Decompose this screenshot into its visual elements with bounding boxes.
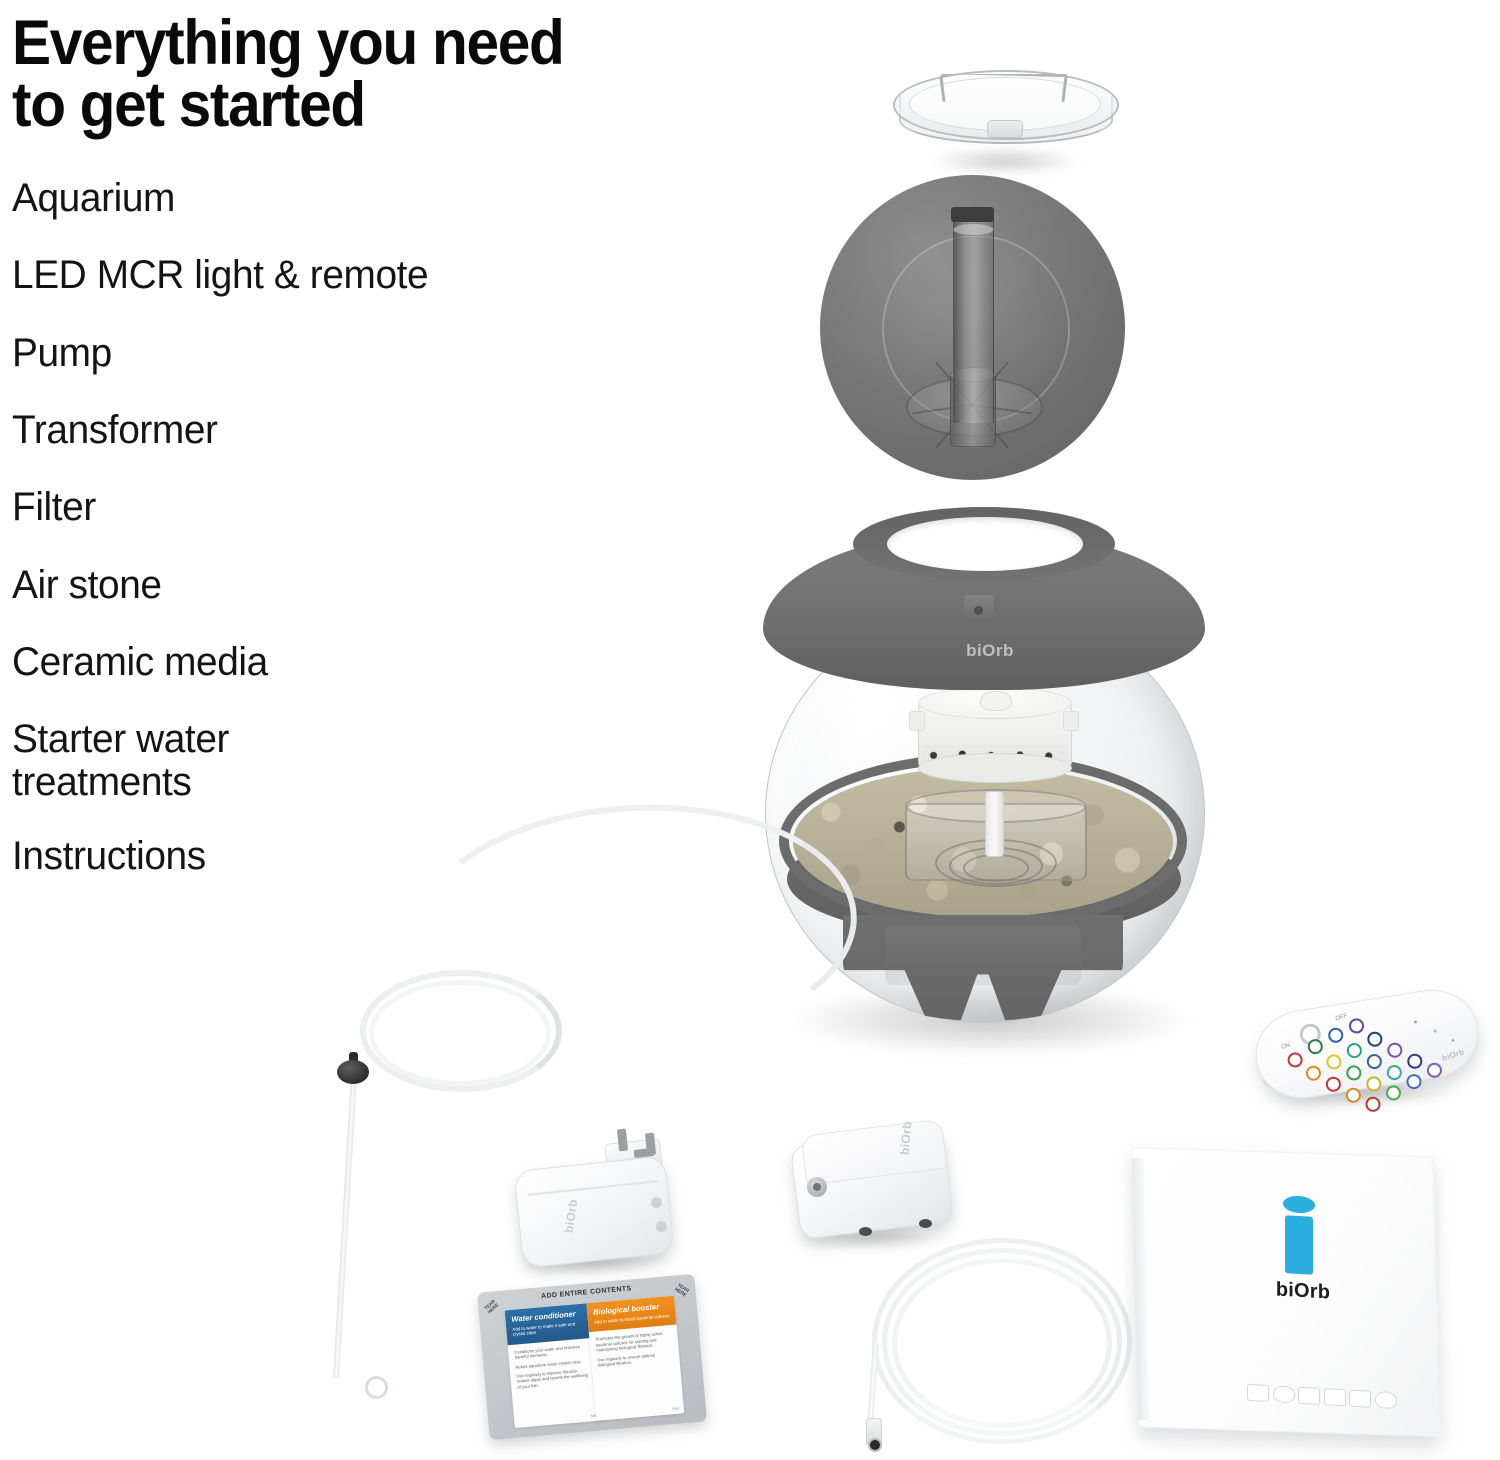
filter-bottom bbox=[918, 753, 1072, 783]
instruction-manual: biOrb bbox=[1135, 1152, 1465, 1450]
list-item: Pump bbox=[12, 332, 691, 374]
clear-lid bbox=[893, 70, 1115, 152]
biological-booster-pack: Biological booster Add to water to boost… bbox=[586, 1296, 684, 1421]
list-item: Starter water treatments bbox=[12, 718, 361, 803]
on-icon: ON bbox=[1281, 1042, 1291, 1050]
remote-color-button[interactable] bbox=[1325, 1076, 1342, 1093]
remote-color-button[interactable] bbox=[1307, 1038, 1324, 1055]
starter-water-treatments: ADD ENTIRE CONTENTS TEARHERE TEARHERE Wa… bbox=[477, 1274, 707, 1440]
page-title: Everything you need to get started bbox=[12, 0, 663, 137]
cable-lead bbox=[867, 1342, 879, 1424]
bullet: Use regularly to ensure optimal biologic… bbox=[597, 1350, 674, 1367]
list-item: Filter bbox=[12, 486, 691, 528]
air-tube-tip bbox=[365, 1376, 388, 1399]
list-item: Aquarium bbox=[12, 177, 691, 219]
brightness-down-icon: ✳ bbox=[1432, 1028, 1439, 1036]
brightness-up-icon: ✷ bbox=[1412, 1019, 1419, 1027]
air-tube-loop-inner bbox=[369, 980, 551, 1086]
led-light-tube bbox=[953, 213, 994, 423]
power-cable-coil bbox=[862, 1230, 1132, 1445]
air-tube-stem bbox=[333, 1075, 357, 1380]
clear-lid-tab bbox=[987, 120, 1023, 138]
remote-color-button[interactable] bbox=[1366, 1053, 1383, 1070]
product-silhouette-icon bbox=[1375, 1391, 1397, 1409]
remote-color-button[interactable] bbox=[1348, 1017, 1365, 1034]
product-silhouette-icon bbox=[1298, 1387, 1320, 1405]
dome-latch-hole bbox=[974, 606, 983, 615]
led-tube-top bbox=[953, 223, 994, 236]
off-icon: OFF bbox=[1335, 1013, 1348, 1022]
product-contents-infographic: Everything you need to get started Aquar… bbox=[0, 0, 1500, 1460]
remote-color-button[interactable] bbox=[1327, 1027, 1344, 1044]
dome-latch bbox=[964, 595, 994, 621]
remote-color-button[interactable] bbox=[1386, 1064, 1403, 1081]
remote-color-button[interactable] bbox=[1426, 1062, 1443, 1079]
air-pump-nozzle bbox=[807, 1177, 827, 1197]
remote-color-button[interactable] bbox=[1364, 1096, 1381, 1113]
bullet: Promotes the growth of highly active bac… bbox=[595, 1330, 672, 1353]
product-silhouette-icon bbox=[1349, 1390, 1371, 1408]
remote-color-button[interactable] bbox=[1345, 1064, 1362, 1081]
mode-icon: ✶ bbox=[1450, 1037, 1457, 1045]
remote-color-button[interactable] bbox=[1325, 1053, 1342, 1070]
remote-color-button[interactable] bbox=[1287, 1051, 1304, 1068]
remote-color-button[interactable] bbox=[1366, 1031, 1383, 1048]
remote-color-button[interactable] bbox=[1385, 1084, 1402, 1101]
air-pump-foot bbox=[919, 1219, 932, 1228]
list-item: Ceramic media bbox=[12, 641, 691, 683]
aquarium-foot-face bbox=[885, 925, 1081, 985]
water-conditioner-body: Conditions your water and removes harmfu… bbox=[508, 1337, 600, 1399]
led-mcr-light-unit bbox=[820, 175, 1155, 505]
contents-list: Aquarium LED MCR light & remote Pump Tra… bbox=[12, 177, 712, 878]
remote-shell: ON OFF ✷ ✳ ✶ biOrb bbox=[1249, 983, 1484, 1105]
cable-connector-tip bbox=[868, 1438, 882, 1452]
bullet: Use regularly to improve filtration, red… bbox=[516, 1367, 593, 1390]
list-item: Transformer bbox=[12, 409, 691, 451]
brand-logo-air-pump: biOrb bbox=[898, 1120, 915, 1155]
list-item: Air stone bbox=[12, 564, 691, 606]
brand-logo-remote: biOrb bbox=[1441, 1047, 1466, 1063]
list-item: LED MCR light & remote bbox=[12, 254, 691, 296]
filter-cartridge bbox=[918, 687, 1070, 785]
info-i-stem-icon bbox=[1285, 1215, 1313, 1275]
remote-color-button[interactable] bbox=[1405, 1073, 1422, 1090]
transformer-socket bbox=[651, 1197, 662, 1208]
filter-knob bbox=[980, 691, 1012, 711]
biological-booster-body: Promotes the growth of highly active bac… bbox=[589, 1325, 681, 1377]
transformer: biOrb bbox=[510, 1135, 695, 1285]
filter-ear-left bbox=[909, 711, 925, 731]
led-tube-cap bbox=[951, 207, 994, 222]
pump-assembly bbox=[905, 795, 1083, 899]
transformer-body bbox=[513, 1155, 674, 1268]
product-silhouette-icon bbox=[1324, 1388, 1346, 1406]
remote-color-button[interactable] bbox=[1346, 1042, 1363, 1059]
product-silhouette-icon bbox=[1247, 1384, 1269, 1402]
biological-booster-volume: 5ml bbox=[672, 1406, 679, 1412]
remote-color-button[interactable] bbox=[1345, 1087, 1362, 1104]
copy-panel: Everything you need to get started Aquar… bbox=[12, 0, 712, 913]
filter-ear-right bbox=[1063, 711, 1079, 731]
brand-logo-dome: biOrb bbox=[745, 641, 1235, 661]
air-stone-post bbox=[985, 791, 1004, 857]
product-silhouette-icon bbox=[1273, 1385, 1295, 1403]
remote-color-button[interactable] bbox=[1406, 1053, 1423, 1070]
remote-color-button[interactable] bbox=[1365, 1075, 1382, 1092]
nozzle-hole bbox=[813, 1183, 821, 1191]
sachet-card: ADD ENTIRE CONTENTS TEARHERE TEARHERE Wa… bbox=[477, 1274, 707, 1440]
cable-ring bbox=[892, 1258, 1112, 1428]
dome-opening bbox=[887, 517, 1083, 571]
check-valve bbox=[337, 1060, 369, 1084]
remote-color-button[interactable] bbox=[1305, 1065, 1322, 1082]
remote-color-button[interactable] bbox=[1386, 1042, 1403, 1059]
transformer-socket bbox=[656, 1221, 667, 1232]
led-remote-control: ON OFF ✷ ✳ ✶ biOrb bbox=[1255, 1000, 1485, 1110]
pump-coil bbox=[963, 854, 1029, 882]
